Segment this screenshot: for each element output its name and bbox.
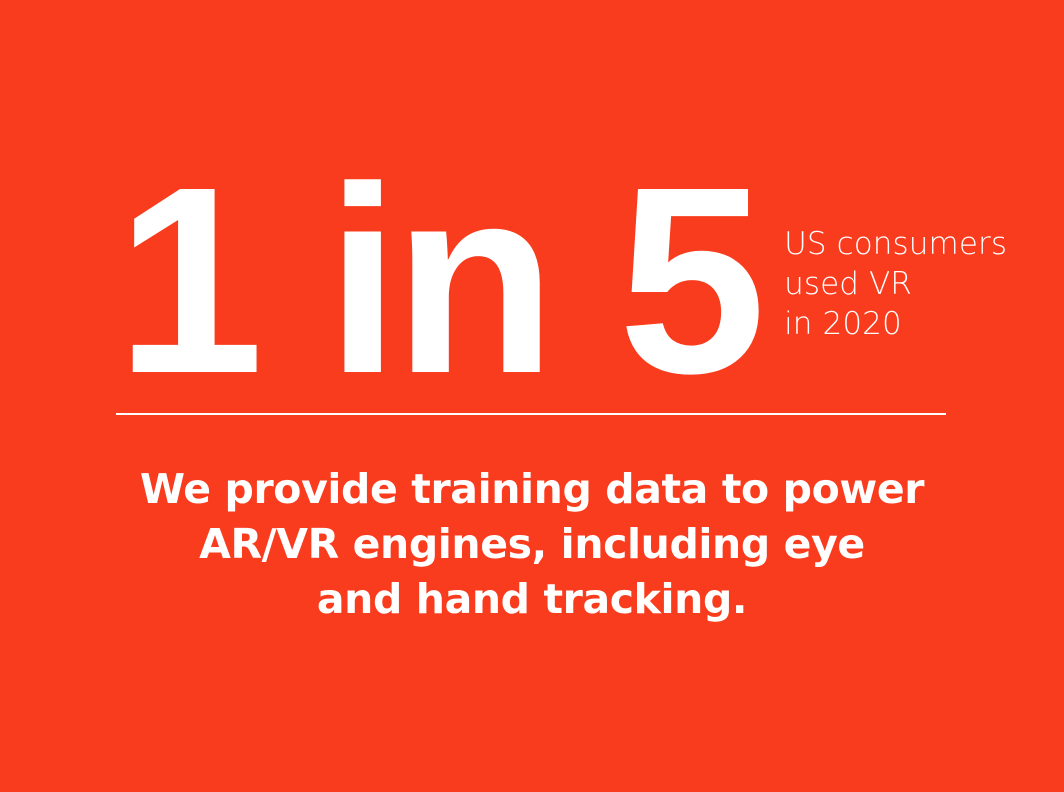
statement-line-1: We provide training data to power [82, 462, 982, 517]
stat-caption-line-1: US consumers [784, 224, 1007, 264]
statement-text: We provide training data to power AR/VR … [82, 462, 982, 627]
statement-line-2: AR/VR engines, including eye [82, 517, 982, 572]
horizontal-rule [116, 413, 946, 415]
stat-headline-row: 1 in 5 US consumers used VR in 2020 [116, 150, 956, 380]
stat-caption: US consumers used VR in 2020 [784, 224, 1007, 344]
statement-line-3: and hand tracking. [82, 572, 982, 627]
stat-caption-line-2: used VR [784, 264, 1007, 304]
stat-card: 1 in 5 US consumers used VR in 2020 We p… [0, 0, 1064, 792]
stat-caption-line-3: in 2020 [784, 304, 1007, 344]
stat-figure: 1 in 5 [116, 175, 760, 388]
